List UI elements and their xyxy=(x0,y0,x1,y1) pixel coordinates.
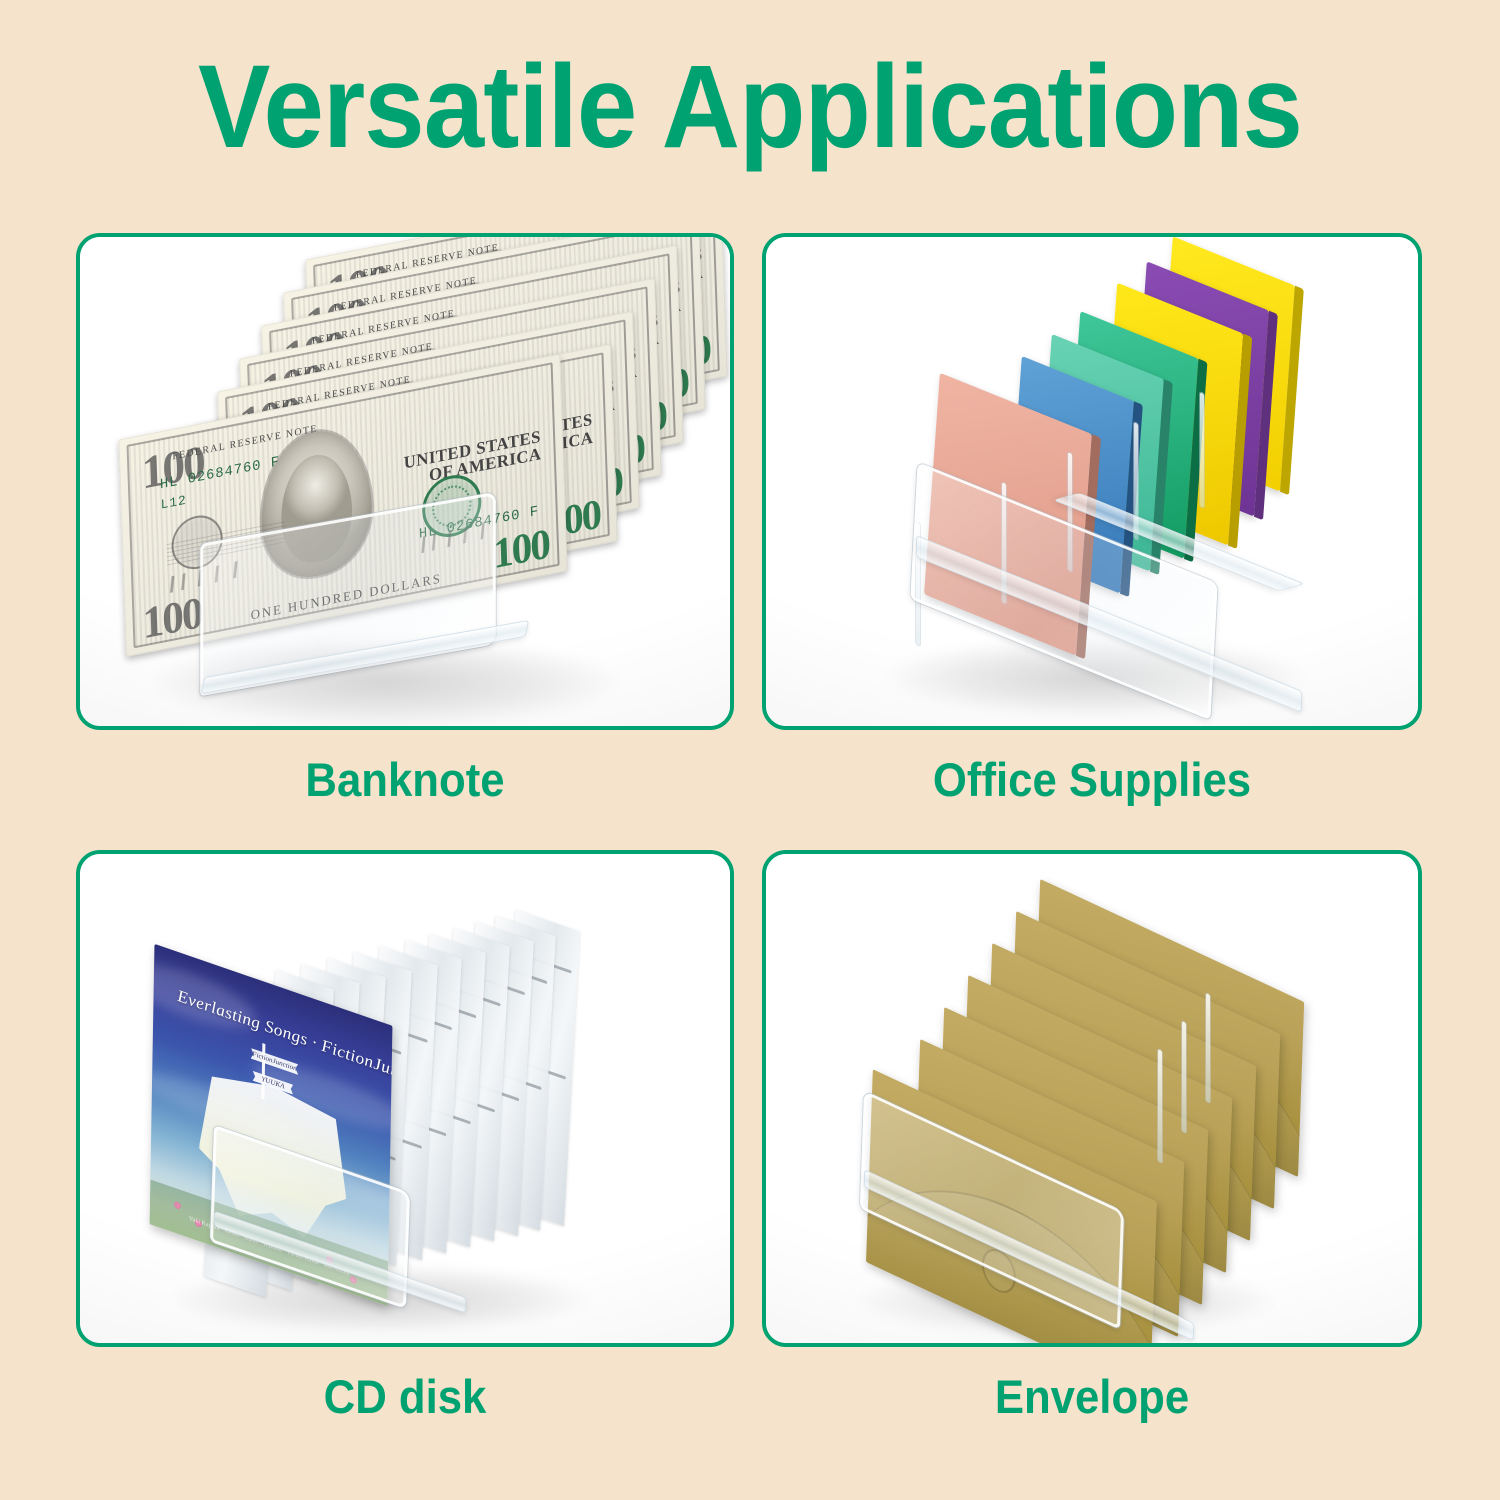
office-supplies-stage xyxy=(766,237,1418,726)
caption-banknote: Banknote xyxy=(99,752,711,807)
banknote-stage: 100 FEDERAL RESERVE NOTE UNITED STATESOF… xyxy=(80,237,730,726)
caption-envelope: Envelope xyxy=(785,1369,1399,1424)
envelope-divider xyxy=(1158,1049,1162,1163)
page-title: Versatile Applications xyxy=(60,48,1440,166)
envelope-divider xyxy=(1206,993,1210,1103)
cd-disk-stage: Everlasting Songs · FictionJunction Fict… xyxy=(80,854,730,1343)
envelope-stage xyxy=(766,854,1418,1343)
panel-envelope[interactable] xyxy=(762,850,1422,1347)
panel-cd-disk[interactable]: Everlasting Songs · FictionJunction Fict… xyxy=(76,850,734,1347)
envelope-divider xyxy=(1182,1021,1186,1133)
panel-office-supplies[interactable] xyxy=(762,233,1422,730)
panel-banknote[interactable]: 100 FEDERAL RESERVE NOTE UNITED STATESOF… xyxy=(76,233,734,730)
sorter-divider xyxy=(1200,392,1204,508)
caption-office-supplies: Office Supplies xyxy=(785,752,1399,807)
caption-cd-disk: CD disk xyxy=(99,1369,711,1424)
